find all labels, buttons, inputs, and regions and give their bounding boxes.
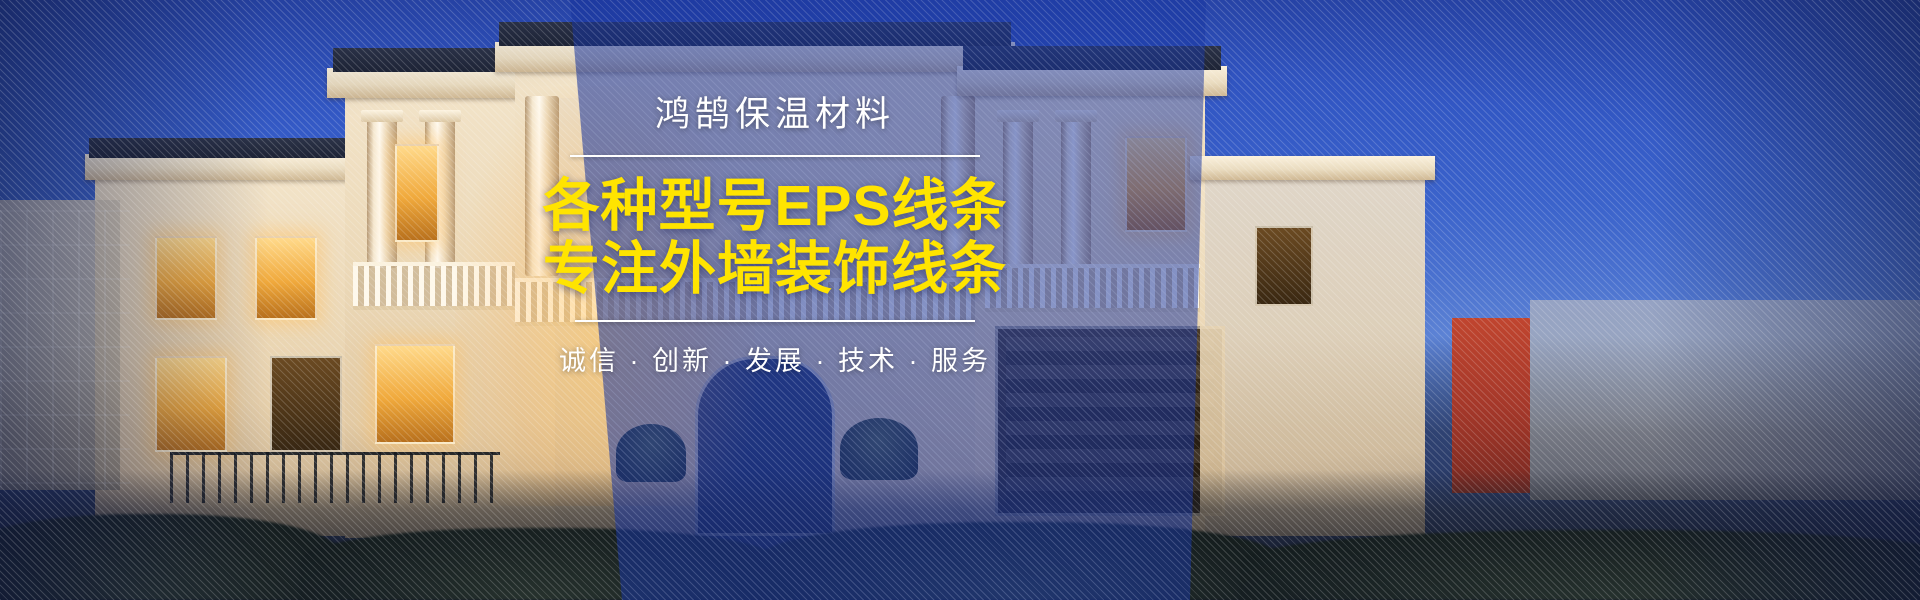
tagline: 诚信 · 创新 · 发展 · 技术 · 服务 [540, 339, 1010, 378]
headline-line-1: 各种型号EPS线条 [540, 175, 1010, 239]
banner-copy-block: 鸿鹄保温材料 各种型号EPS线条 专注外墙装饰线条 诚信 · 创新 · 发展 ·… [540, 96, 1010, 378]
headline-line-2: 专注外墙装饰线条 [540, 238, 1010, 302]
headline-group: 各种型号EPS线条 专注外墙装饰线条 [540, 175, 1010, 303]
divider-bottom [575, 320, 975, 322]
divider-top [570, 155, 980, 157]
promo-banner: 鸿鹄保温材料 各种型号EPS线条 专注外墙装饰线条 诚信 · 创新 · 发展 ·… [0, 0, 1920, 600]
brand-name: 鸿鹄保温材料 [540, 96, 1010, 135]
